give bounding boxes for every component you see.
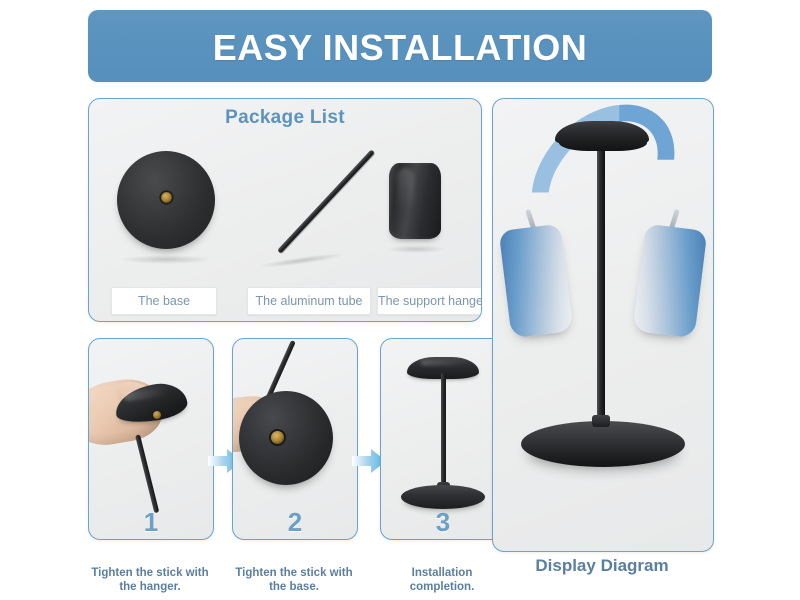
step-caption-2: Tighten the stick with the base.: [232, 566, 356, 595]
tube-body: [277, 149, 375, 253]
page-title: EASY INSTALLATION: [213, 30, 588, 66]
display-diagram-illustration: [493, 99, 713, 551]
base-disc-shape: [401, 485, 485, 509]
stand-collar: [592, 415, 610, 427]
step-number-3: 3: [381, 509, 505, 535]
aluminum-tube-shape: [135, 434, 159, 513]
package-label-base: The base: [111, 287, 217, 315]
step-number-2: 2: [233, 509, 357, 535]
base-screw-icon: [161, 192, 172, 203]
tube-shadow: [259, 251, 345, 270]
package-item-labels: The base The aluminum tube The support h…: [89, 287, 481, 313]
step-panel-2: 2: [232, 338, 358, 540]
display-diagram-title: Display Diagram: [492, 556, 712, 576]
package-label-aluminum-tube: The aluminum tube: [247, 287, 371, 315]
support-hanger-icon: [373, 157, 459, 277]
aluminum-tube-icon: [239, 137, 359, 277]
aluminum-tube-shape: [441, 373, 446, 491]
step-panel-3: 3: [380, 338, 506, 540]
package-list-title: Package List: [89, 107, 481, 129]
step-caption-1: Tighten the stick with the hanger.: [88, 566, 212, 595]
screw-icon: [153, 411, 161, 419]
stand-base: [521, 421, 685, 467]
headphone-earcup-left: [499, 224, 574, 339]
headphone-earcup-right: [633, 224, 708, 339]
base-disc-icon: [117, 151, 215, 249]
screw-icon: [271, 431, 284, 444]
hanger-body: [389, 163, 441, 239]
step-caption-3: Installation completion.: [380, 566, 504, 595]
headphone-head-pad: [559, 125, 647, 151]
hanger-shadow: [387, 245, 445, 253]
package-item-images: [89, 129, 481, 289]
header-banner: EASY INSTALLATION: [88, 10, 712, 82]
package-label-support-hanger: The support hanger: [377, 287, 482, 315]
package-list-panel: Package List The base The aluminum tube …: [88, 98, 482, 322]
step-panel-1: 1: [88, 338, 214, 540]
stand-pole: [597, 139, 605, 429]
display-diagram-panel: [492, 98, 714, 552]
base-disc-shape: [239, 391, 333, 485]
base-shadow: [119, 255, 213, 264]
step-number-1: 1: [89, 509, 213, 535]
installation-infographic: EASY INSTALLATION Package List The base …: [0, 0, 800, 600]
